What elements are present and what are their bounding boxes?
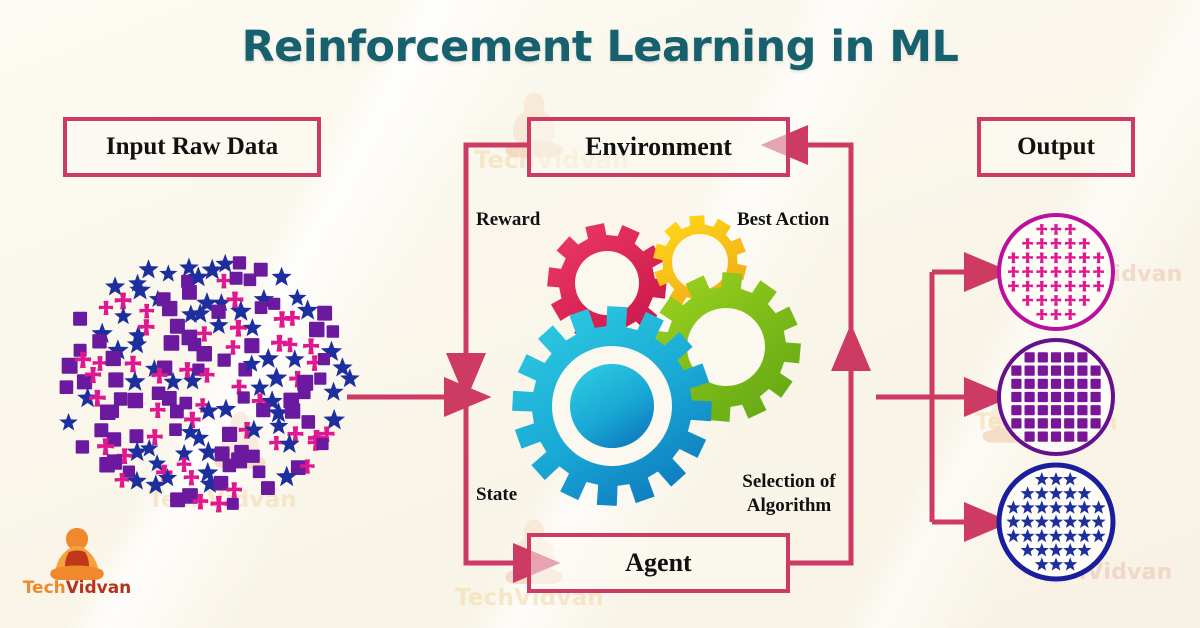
output-marker <box>1038 405 1048 415</box>
output-marker <box>1038 432 1048 442</box>
box-output-label: Output <box>1017 133 1095 161</box>
output-marker <box>1064 405 1074 415</box>
output-marker <box>1025 405 1035 415</box>
output-marker <box>1064 352 1074 362</box>
output-marker <box>1038 379 1048 389</box>
output-marker <box>1077 379 1087 389</box>
output-marker <box>1038 366 1048 376</box>
meditating-figure-icon <box>22 524 132 580</box>
output-marker <box>1038 392 1048 402</box>
box-environment[interactable]: Environment <box>527 117 790 177</box>
label-reward: Reward <box>476 208 540 232</box>
box-input-raw-data[interactable]: Input Raw Data <box>63 117 321 177</box>
output-marker <box>1011 366 1021 376</box>
output-marker <box>1091 405 1101 415</box>
output-marker <box>1091 392 1101 402</box>
output-marker <box>1051 405 1061 415</box>
output-marker <box>1077 392 1087 402</box>
output-marker <box>1011 392 1021 402</box>
output-marker <box>1038 352 1048 362</box>
output-marker <box>1025 418 1035 428</box>
output-marker <box>1011 418 1021 428</box>
box-output[interactable]: Output <box>977 117 1135 177</box>
logo-wordmark: TechVidvan <box>22 578 132 598</box>
label-state: State <box>476 483 517 507</box>
diagram-canvas: TechVidvanTechVidvanTechVidvanTechVidvan… <box>0 0 1200 628</box>
output-marker <box>1077 352 1087 362</box>
output-marker <box>1077 432 1087 442</box>
output-marker <box>1064 432 1074 442</box>
output-marker <box>1051 379 1061 389</box>
output-marker <box>1025 392 1035 402</box>
output-marker <box>1051 352 1061 362</box>
label-selection-line2: Algorithm <box>729 494 849 518</box>
output-marker <box>1091 418 1101 428</box>
output-cluster-stars <box>999 465 1113 579</box>
output-marker <box>1025 352 1035 362</box>
output-marker <box>1064 418 1074 428</box>
output-marker <box>1064 392 1074 402</box>
output-marker <box>1038 418 1048 428</box>
box-agent[interactable]: Agent <box>527 533 790 593</box>
output-marker <box>1011 379 1021 389</box>
output-marker <box>1025 379 1035 389</box>
output-marker <box>1077 366 1087 376</box>
label-selection-of-algorithm: Selection of Algorithm <box>729 470 849 518</box>
output-marker <box>1064 379 1074 389</box>
output-marker <box>1051 432 1061 442</box>
box-environment-label: Environment <box>585 132 732 162</box>
output-marker <box>1077 418 1087 428</box>
output-cluster-crosses <box>999 215 1113 329</box>
output-marker <box>1051 392 1061 402</box>
logo-tech: Tech <box>23 578 66 598</box>
output-marker <box>1025 366 1035 376</box>
output-marker <box>1064 366 1074 376</box>
output-marker <box>1091 366 1101 376</box>
output-marker <box>1091 379 1101 389</box>
output-marker <box>1077 405 1087 415</box>
output-marker <box>1051 418 1061 428</box>
logo-vidvan: Vidvan <box>66 578 132 598</box>
output-marker <box>1025 432 1035 442</box>
box-agent-label: Agent <box>625 548 691 578</box>
techvidvan-logo[interactable]: TechVidvan <box>22 524 132 608</box>
output-marker <box>1051 366 1061 376</box>
output-marker <box>1011 405 1021 415</box>
box-input-label: Input Raw Data <box>106 133 278 161</box>
output-cluster-squares <box>999 340 1113 454</box>
label-best-action: Best Action <box>737 208 829 232</box>
label-selection-line1: Selection of <box>729 470 849 494</box>
